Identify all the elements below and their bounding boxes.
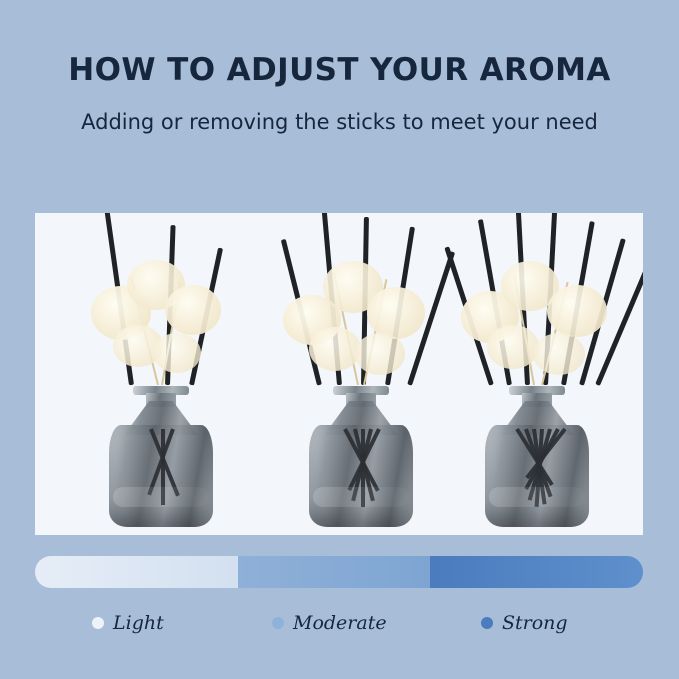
flower-cluster xyxy=(165,285,221,335)
intensity-segment-light xyxy=(35,556,238,588)
legend-label: Light xyxy=(113,612,164,634)
intensity-segment-strong xyxy=(430,556,643,588)
legend-label: Strong xyxy=(502,612,568,634)
strong-diffuser-group xyxy=(437,213,637,535)
page-title: HOW TO ADJUST YOUR AROMA xyxy=(0,52,679,88)
legend-item-light: Light xyxy=(92,612,164,634)
flower-cluster xyxy=(153,333,201,373)
flower-cluster xyxy=(533,333,585,375)
page-subtitle: Adding or removing the sticks to meet yo… xyxy=(0,110,679,134)
vase-highlight xyxy=(489,487,585,507)
legend-dot-icon xyxy=(92,617,104,629)
intensity-segment-moderate xyxy=(238,556,430,588)
vase-body xyxy=(485,425,589,527)
moderate-diffuser-group xyxy=(261,213,461,535)
legend-dot-icon xyxy=(481,617,493,629)
flower-cluster xyxy=(309,327,361,371)
product-photo xyxy=(35,213,643,535)
flower-cluster xyxy=(367,287,425,339)
light-diffuser-group xyxy=(61,213,261,535)
legend-label: Moderate xyxy=(293,612,387,634)
vase-body xyxy=(309,425,413,527)
flower-cluster xyxy=(355,333,405,375)
legend-item-moderate: Moderate xyxy=(272,612,387,634)
flower-cluster xyxy=(547,285,607,337)
legend: Light Moderate Strong xyxy=(35,612,643,646)
vase-highlight xyxy=(113,487,209,507)
intensity-bar xyxy=(35,556,643,588)
vase-body xyxy=(109,425,213,527)
flower-cluster xyxy=(487,325,539,369)
legend-item-strong: Strong xyxy=(481,612,568,634)
legend-dot-icon xyxy=(272,617,284,629)
vase-highlight xyxy=(313,487,409,507)
promo-infographic: HOW TO ADJUST YOUR AROMA Adding or remov… xyxy=(0,0,679,679)
